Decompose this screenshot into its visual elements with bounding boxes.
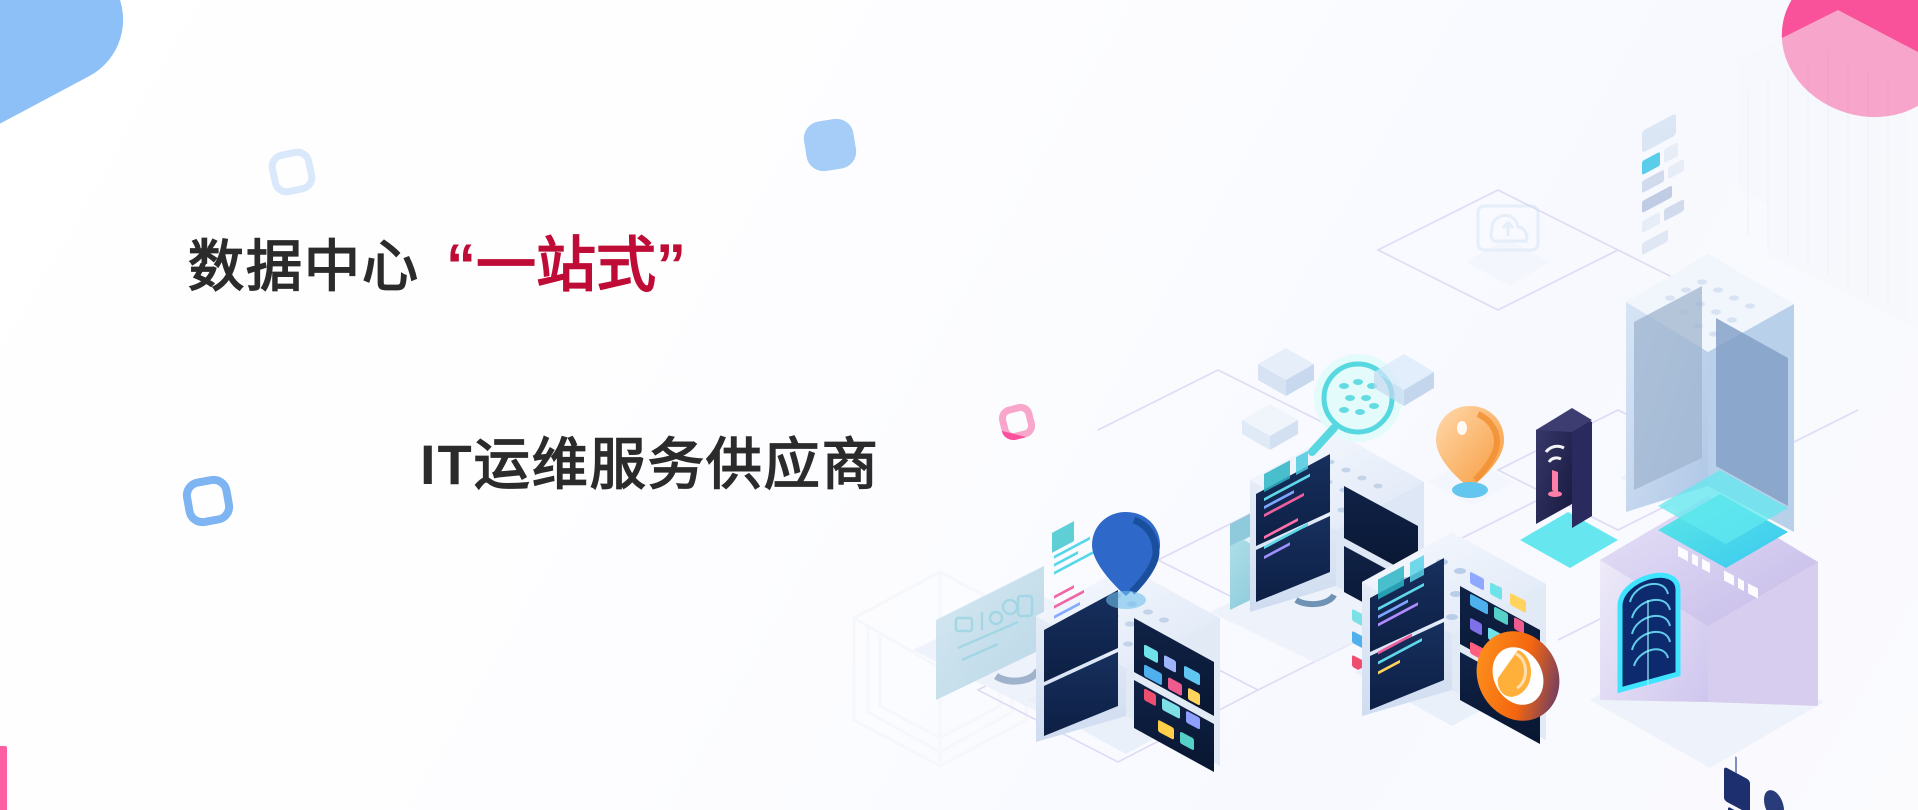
accent-bar-bottom-left xyxy=(0,746,7,810)
headline-line-2: IT运维服务供应商 xyxy=(188,420,1018,501)
map-pin-marker xyxy=(1428,406,1514,506)
corner-blob-top-left xyxy=(0,0,146,158)
headline-dark-text: 数据中心 xyxy=(188,235,420,298)
cooling-unit-vent xyxy=(1620,575,1678,690)
headline-line-1: 数据中心“一站式” xyxy=(188,236,1018,296)
hero-banner: 数据中心“一站式” IT运维服务供应商 xyxy=(0,0,1918,810)
cloud-upload-icon xyxy=(1466,206,1550,286)
accent-square-blue-filled xyxy=(801,116,858,173)
headline-accent-text: “一站式” xyxy=(446,232,686,299)
headline-block: 数据中心“一站式” IT运维服务供应商 xyxy=(188,236,1018,501)
network-node-cube xyxy=(1242,348,1314,450)
accent-square-light-blue xyxy=(266,146,318,198)
server-rack-front-left xyxy=(1028,512,1220,772)
